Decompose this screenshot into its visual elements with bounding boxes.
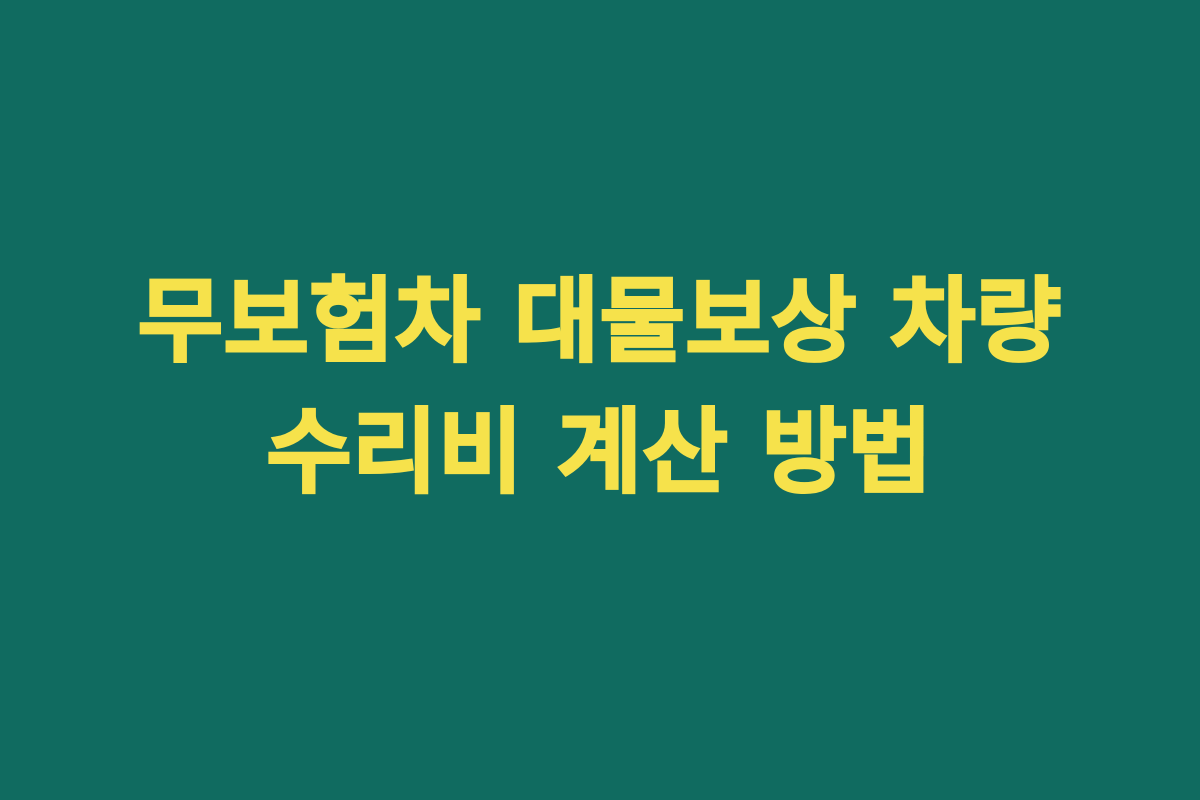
title-line-1: 무보험차 대물보상 차량: [138, 257, 1062, 388]
title-line-2: 수리비 계산 방법: [267, 388, 933, 519]
title-card: 무보험차 대물보상 차량 수리비 계산 방법: [0, 0, 1200, 800]
title-block: 무보험차 대물보상 차량 수리비 계산 방법: [0, 257, 1200, 518]
